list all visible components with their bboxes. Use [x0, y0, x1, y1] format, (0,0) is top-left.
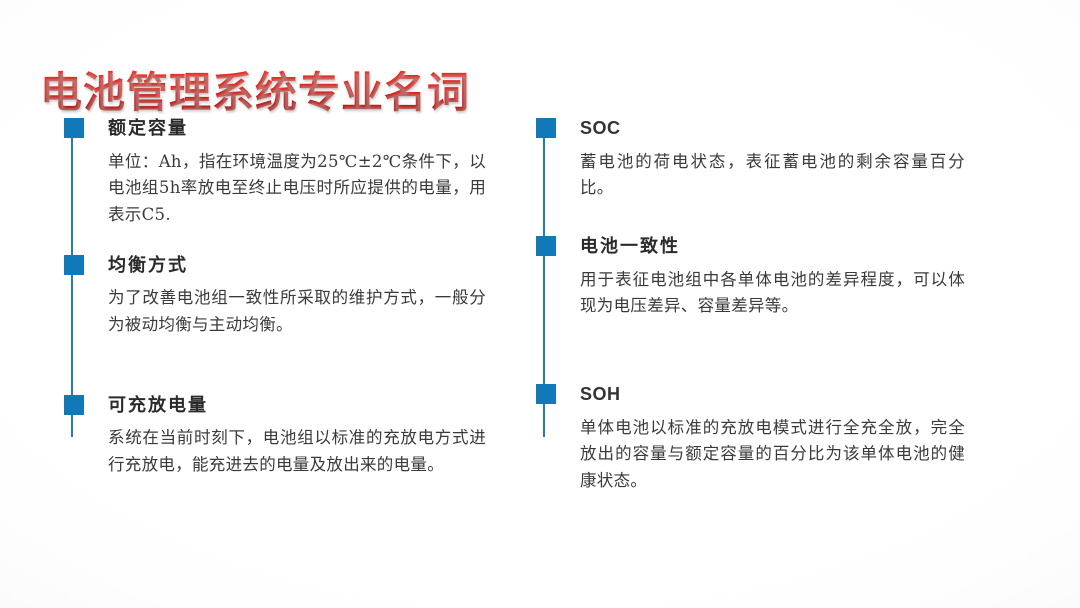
- term-heading: SOC: [580, 118, 980, 140]
- left-column: 额定容量 单位：Ah，指在环境温度为25℃±2℃条件下，以电池组5h率放电至终止…: [58, 118, 508, 479]
- bullet-marker-icon: [64, 255, 84, 275]
- term-heading: 额定容量: [108, 118, 508, 140]
- term-entry-body: 额定容量 单位：Ah，指在环境温度为25℃±2℃条件下，以电池组5h率放电至终止…: [108, 118, 508, 229]
- term-entry: 额定容量 单位：Ah，指在环境温度为25℃±2℃条件下，以电池组5h率放电至终止…: [58, 118, 508, 229]
- bullet-marker-icon: [536, 118, 556, 138]
- right-column: SOC 蓄电池的荷电状态，表征蓄电池的剩余容量百分比。 电池一致性 用于表征电池…: [530, 118, 980, 495]
- bullet-marker-icon: [536, 384, 556, 404]
- term-entry-body: SOH 单体电池以标准的充放电模式进行全充全放，完全放出的容量与额定容量的百分比…: [580, 384, 980, 495]
- term-description: 单位：Ah，指在环境温度为25℃±2℃条件下，以电池组5h率放电至终止电压时所应…: [108, 149, 486, 229]
- term-entry: 电池一致性 用于表征电池组中各单体电池的差异程度，可以体现为电压差异、容量差异等…: [530, 236, 980, 320]
- term-heading: 可充放电量: [108, 395, 508, 417]
- bullet-marker-icon: [536, 236, 556, 256]
- term-entry: 可充放电量 系统在当前时刻下，电池组以标准的充放电方式进行充放电，能充进去的电量…: [58, 395, 508, 479]
- term-heading: 电池一致性: [580, 236, 980, 258]
- bullet-marker-icon: [64, 395, 84, 415]
- bullet-marker-icon: [64, 118, 84, 138]
- term-description: 系统在当前时刻下，电池组以标准的充放电方式进行充放电，能充进去的电量及放出来的电…: [108, 425, 486, 478]
- term-description: 蓄电池的荷电状态，表征蓄电池的剩余容量百分比。: [580, 149, 965, 202]
- term-entry: SOC 蓄电池的荷电状态，表征蓄电池的剩余容量百分比。: [530, 118, 980, 202]
- term-entry-body: 电池一致性 用于表征电池组中各单体电池的差异程度，可以体现为电压差异、容量差异等…: [580, 236, 980, 320]
- term-heading: SOH: [580, 384, 980, 406]
- term-entry: 均衡方式 为了改善电池组一致性所采取的维护方式，一般分为被动均衡与主动均衡。: [58, 255, 508, 339]
- term-entry: SOH 单体电池以标准的充放电模式进行全充全放，完全放出的容量与额定容量的百分比…: [530, 384, 980, 495]
- page-title: 电池管理系统专业名词: [40, 70, 470, 115]
- term-description: 为了改善电池组一致性所采取的维护方式，一般分为被动均衡与主动均衡。: [108, 285, 486, 338]
- term-heading: 均衡方式: [108, 255, 508, 277]
- term-description: 用于表征电池组中各单体电池的差异程度，可以体现为电压差异、容量差异等。: [580, 267, 965, 320]
- term-entry-body: SOC 蓄电池的荷电状态，表征蓄电池的剩余容量百分比。: [580, 118, 980, 202]
- term-entry-body: 可充放电量 系统在当前时刻下，电池组以标准的充放电方式进行充放电，能充进去的电量…: [108, 395, 508, 479]
- term-description: 单体电池以标准的充放电模式进行全充全放，完全放出的容量与额定容量的百分比为该单体…: [580, 415, 965, 495]
- slide-canvas: 电池管理系统专业名词 额定容量 单位：Ah，指在环境温度为25℃±2℃条件下，以…: [0, 0, 1080, 608]
- term-entry-body: 均衡方式 为了改善电池组一致性所采取的维护方式，一般分为被动均衡与主动均衡。: [108, 255, 508, 339]
